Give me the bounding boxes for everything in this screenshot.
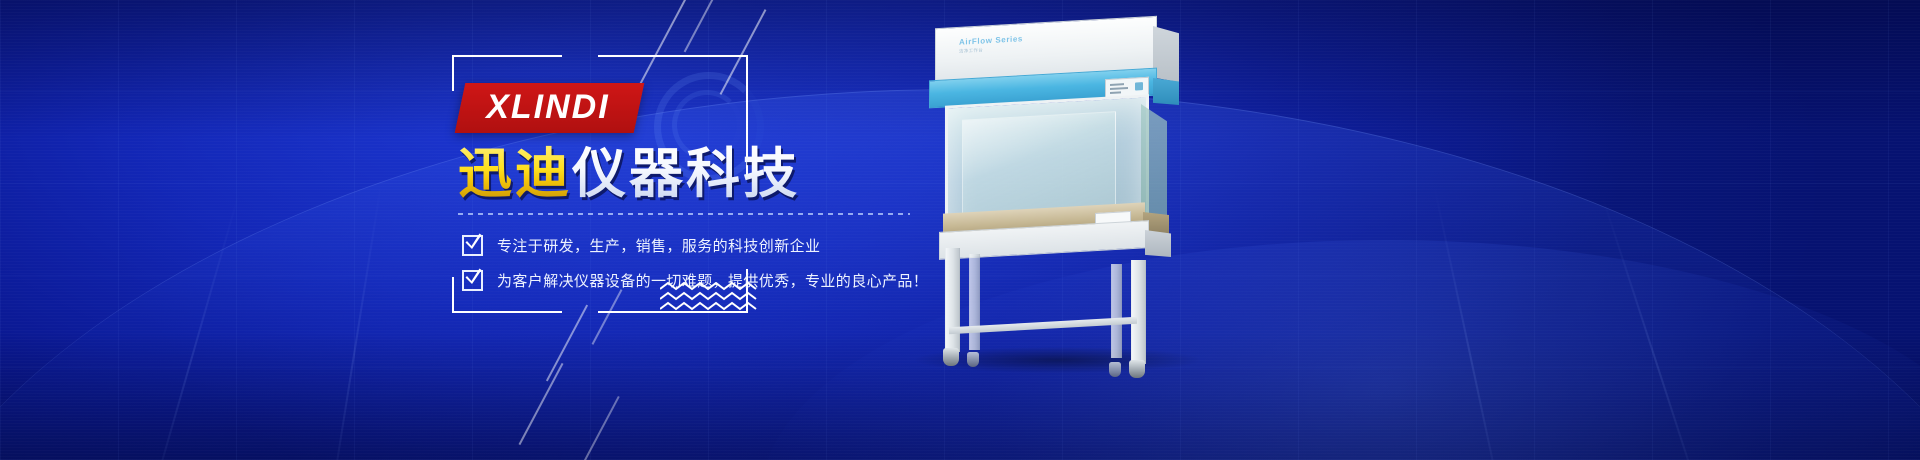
product-image-clean-bench: AirFlow Series 洁净工作台 <box>925 22 1190 367</box>
brand-logo-badge: XLINDI <box>455 83 645 133</box>
check-icon <box>462 235 483 256</box>
brand-logo-text: XLINDI <box>486 90 609 124</box>
check-icon <box>462 270 483 291</box>
title-white-part: 仪器科技 <box>572 142 800 205</box>
page-title: 迅迪仪器科技 <box>458 147 800 201</box>
product-blue-band-side <box>1153 78 1179 105</box>
product-leg <box>945 248 960 352</box>
product-caster <box>1129 360 1145 378</box>
banner-content: XLINDI 迅迪仪器科技 专注于研发，生产，销售，服务的科技创新企业 <box>452 55 922 315</box>
list-item-label: 专注于研发，生产，销售，服务的科技创新企业 <box>497 235 820 256</box>
dotted-divider <box>458 213 910 215</box>
product-leg <box>969 254 980 350</box>
title-gold-part: 迅迪 <box>458 142 572 205</box>
product-brand-label: AirFlow Series 洁净工作台 <box>959 34 1023 55</box>
list-item: 专注于研发，生产，销售，服务的科技创新企业 <box>462 235 932 256</box>
product-caster <box>943 348 959 366</box>
product-front-apron-side <box>1145 230 1171 257</box>
product-caster <box>967 352 979 367</box>
promo-banner: XLINDI 迅迪仪器科技 专注于研发，生产，销售，服务的科技创新企业 <box>0 0 1920 460</box>
zigzag-wave-icon <box>660 282 758 317</box>
product-caster <box>1109 362 1121 377</box>
product-leg <box>1111 264 1122 358</box>
product-leg <box>1131 260 1146 364</box>
